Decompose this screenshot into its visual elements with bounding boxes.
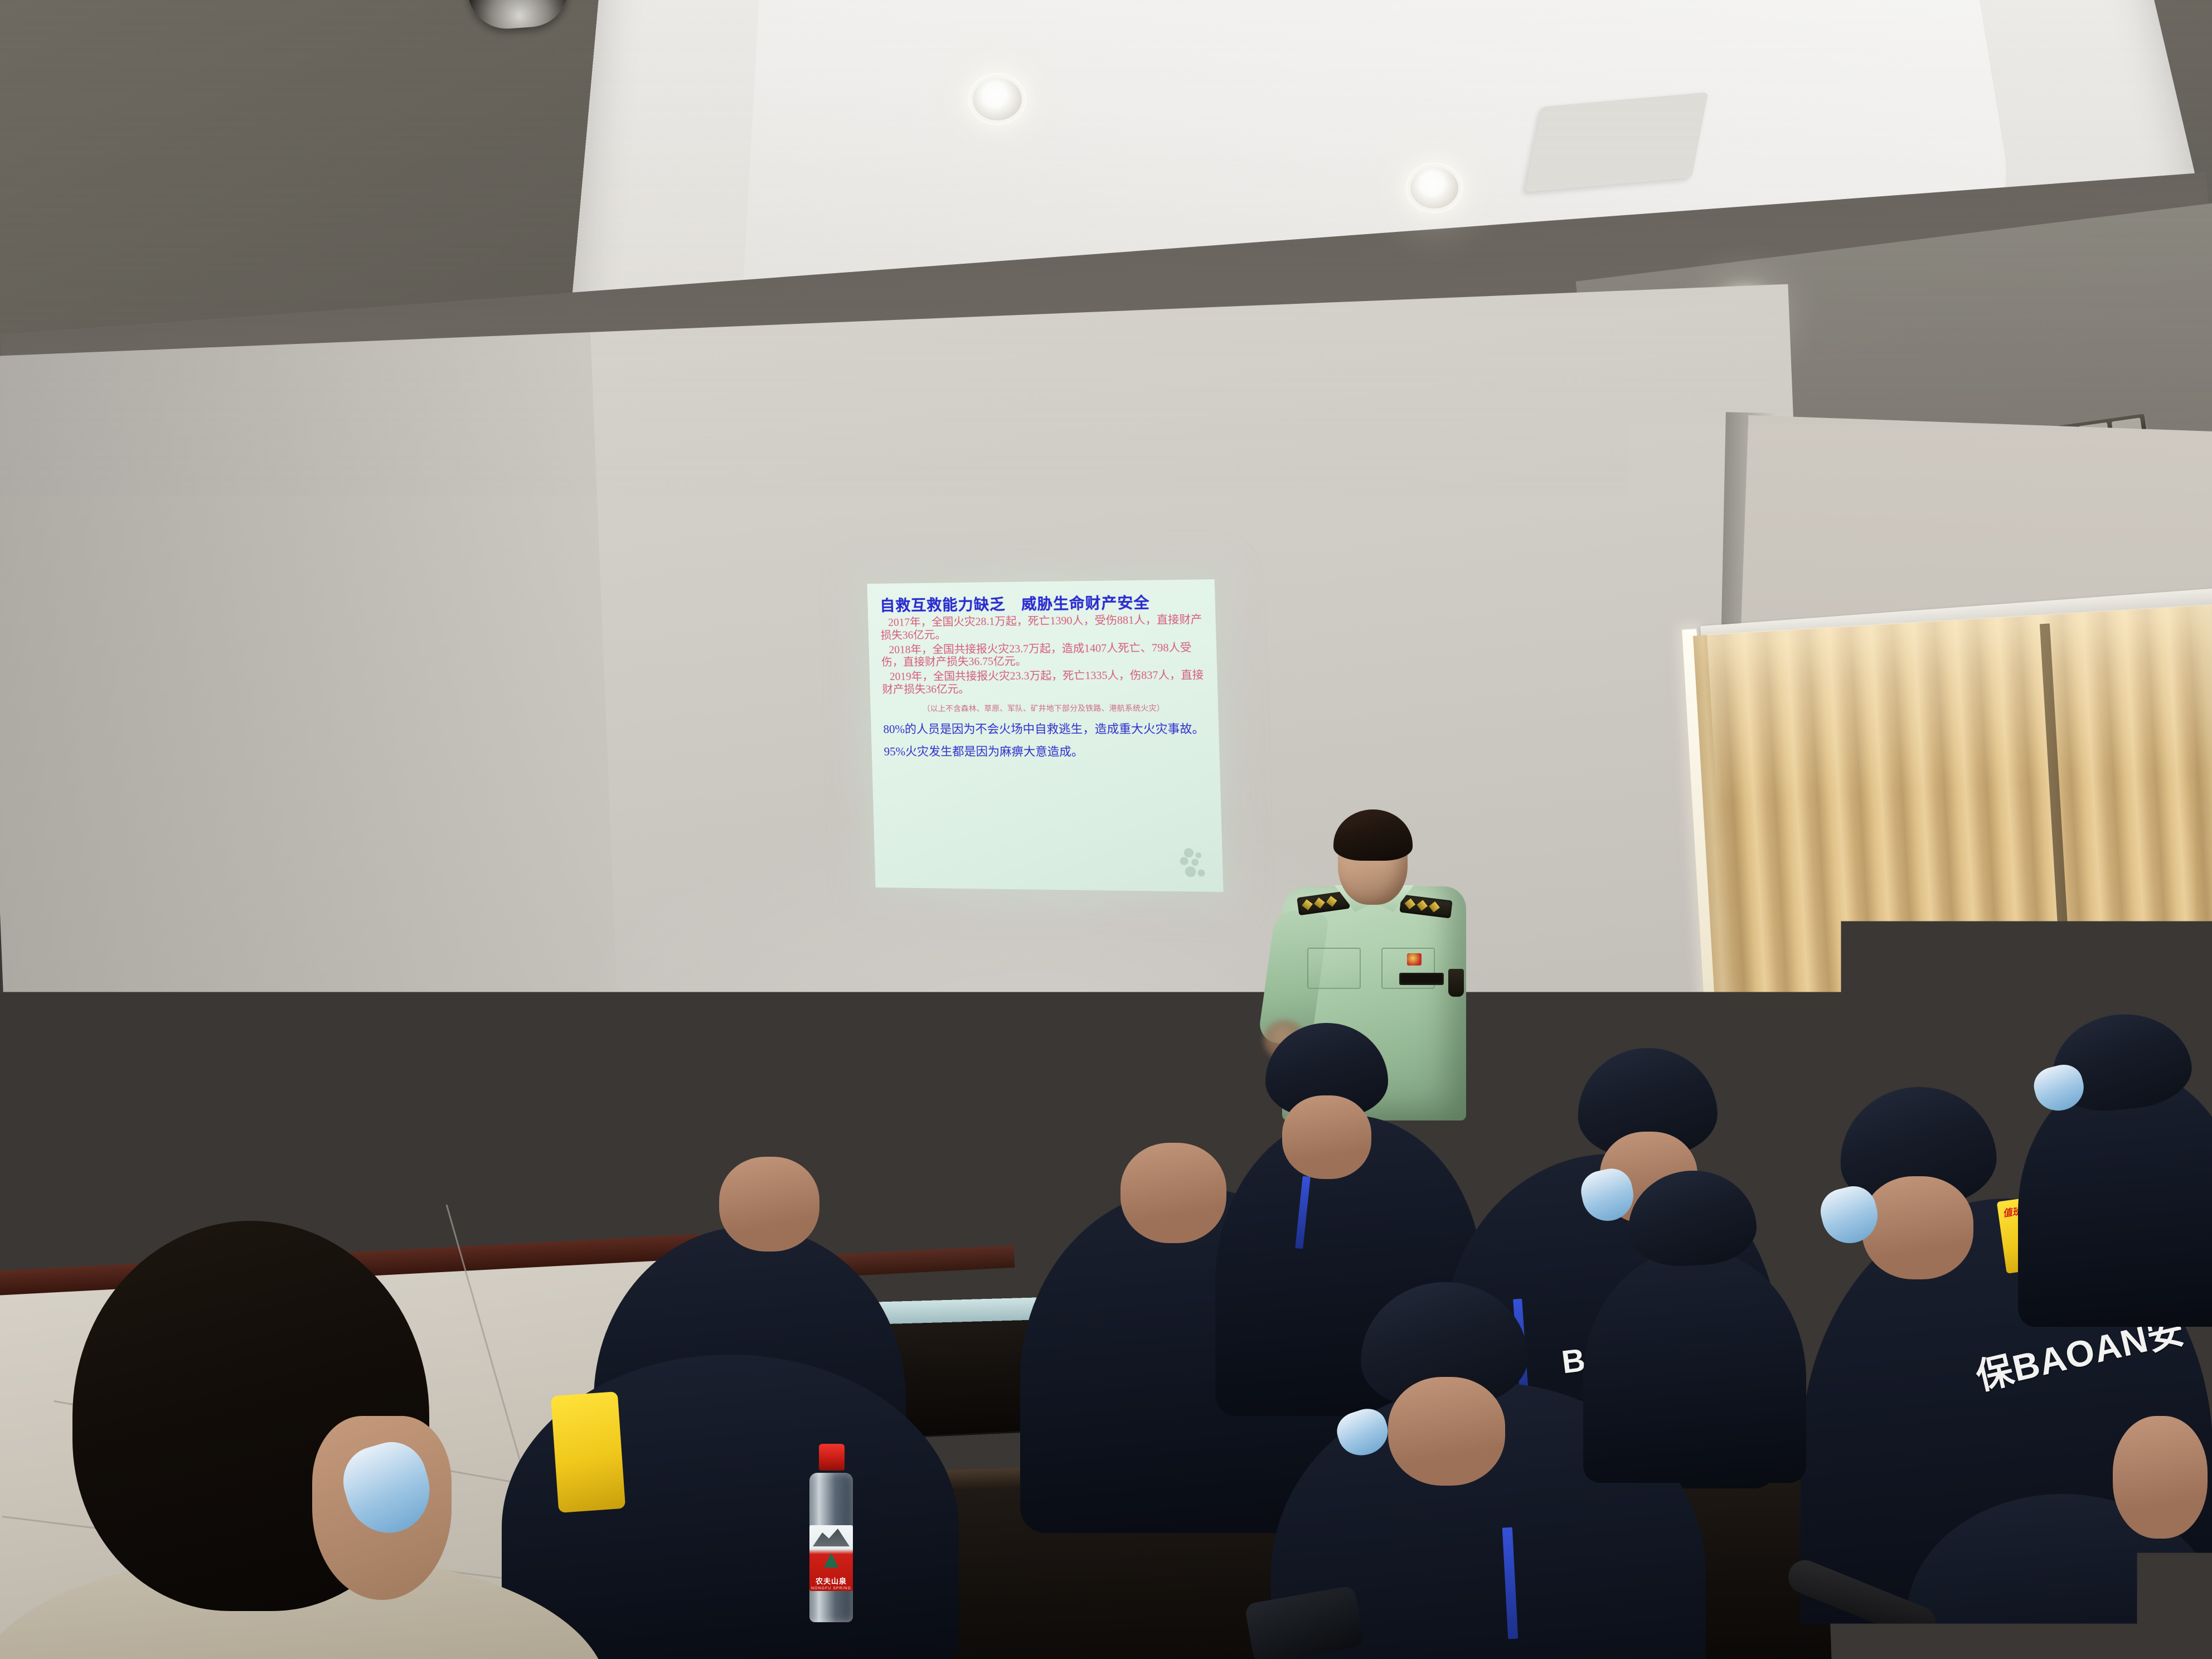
projected-slide: 自救互救能力缺乏 威胁生命财产安全 2017年，全国火灾28.1万起，死亡139… (867, 579, 1223, 892)
bottle-brand-cn: 农夫山泉 (809, 1575, 853, 1586)
water-bottle[interactable]: 农夫山泉 NONGFU SPRING (809, 1444, 853, 1622)
slide-highlight-80: 80%的人员是因为不会火场中自救逃生，造成重大火灾事故。 (883, 722, 1207, 736)
slide-stat-2017: 2017年，全国火灾28.1万起，死亡1390人，受伤881人，直接财产损失36… (880, 614, 1205, 642)
attendee-bottom-center-neck (1388, 1377, 1505, 1486)
slide-footnote: （以上不含森林、草原、军队、矿井地下部分及铁路、港航系统火灾） (882, 701, 1206, 714)
downlight-icon-2 (1410, 167, 1458, 208)
presenter-shoulder-patch (1448, 969, 1464, 997)
slide-watermark-icon (1176, 846, 1214, 884)
slide-stat-2019: 2019年，全国共接报火灾23.3万起，死亡1335人，伤837人，直接财产损失… (882, 670, 1206, 697)
ceiling-coffer-notch (1525, 92, 1709, 192)
attendee-bottom-left-armband (551, 1391, 625, 1513)
slide-stat-2018: 2018年，全国共接报火灾23.7万起，造成1407人死亡、798人受伤，直接财… (881, 642, 1205, 670)
presenter-badge-icon (1407, 953, 1422, 966)
presenter-nametag (1399, 973, 1444, 985)
downlight-icon-1 (973, 78, 1022, 120)
bottle-brand-en: NONGFU SPRING (809, 1587, 853, 1590)
presenter-pocket-left (1307, 948, 1361, 989)
slide-title: 自救互救能力缺乏 威胁生命财产安全 (880, 590, 1204, 615)
case-handle (1812, 1069, 1836, 1085)
slide-highlight-95: 95%火灾发生都是因为麻痹大意造成。 (884, 745, 1207, 759)
attendee-bottom-right-hand (2113, 1416, 2208, 1539)
chair-back-1-pad (900, 1069, 996, 1142)
attendee-center-neck (1282, 1095, 1371, 1179)
training-room-scene: 自救互救能力缺乏 威胁生命财产安全 2017年，全国火灾28.1万起，死亡139… (0, 0, 2212, 1659)
attendee-center-left-neck (1120, 1143, 1226, 1243)
bottle-cap (819, 1444, 845, 1471)
wall-shadow-left (0, 332, 630, 1337)
attendee-back-left-neck (719, 1157, 819, 1251)
